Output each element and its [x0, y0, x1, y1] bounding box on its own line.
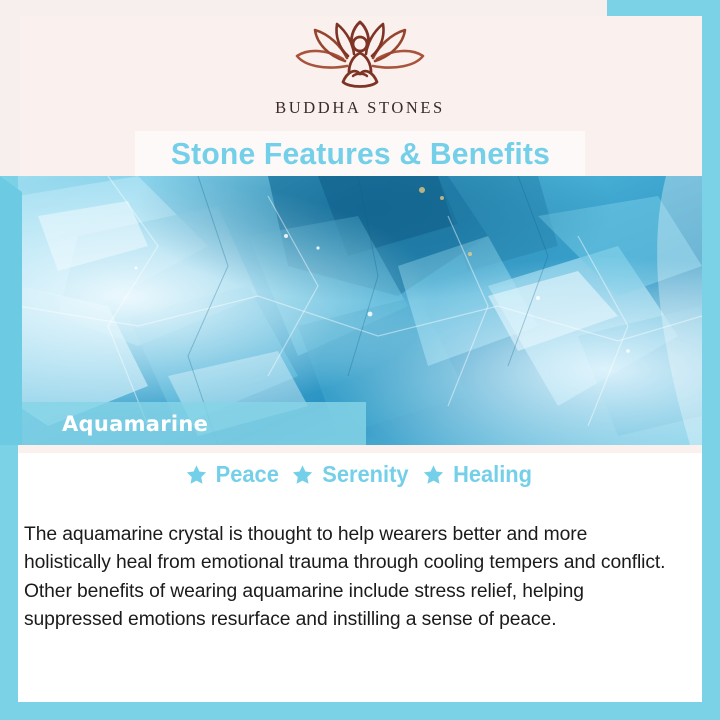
benefit-label: Healing — [453, 461, 532, 488]
benefit-item-peace: Peace — [186, 461, 281, 488]
brand-logo: BUDDHA STONES — [18, 16, 702, 118]
stone-description: The aquamarine crystal is thought to hel… — [24, 520, 674, 634]
poster-card: BUDDHA STONES Stone Features & Benefits — [0, 0, 720, 720]
page-title: Stone Features & Benefits — [170, 136, 549, 172]
benefit-item-healing: Healing — [423, 461, 534, 488]
benefit-item-serenity: Serenity — [292, 461, 411, 488]
frame-edge-right — [702, 0, 720, 720]
benefit-label: Serenity — [323, 461, 409, 488]
lotus-meditation-figure-icon — [285, 16, 435, 94]
star-icon — [292, 464, 313, 485]
benefits-list: Peace Serenity Healing — [18, 461, 702, 488]
star-icon — [186, 464, 207, 485]
frame-top-cream-bleed — [0, 0, 607, 16]
page-title-band: Stone Features & Benefits — [135, 131, 585, 176]
star-icon — [423, 464, 444, 485]
benefit-label: Peace — [215, 461, 278, 488]
brand-name: BUDDHA STONES — [18, 98, 702, 118]
frame-edge-bottom — [0, 702, 720, 720]
content-panel: BUDDHA STONES Stone Features & Benefits — [18, 0, 702, 702]
stone-name: Aquamarine — [62, 412, 208, 436]
stone-name-banner: Aquamarine — [18, 402, 366, 445]
frame-notch-left — [0, 176, 22, 445]
stone-info-section: Peace Serenity Healing The aquamarine cr… — [18, 453, 702, 702]
frame-left-cream-bleed — [0, 0, 20, 176]
